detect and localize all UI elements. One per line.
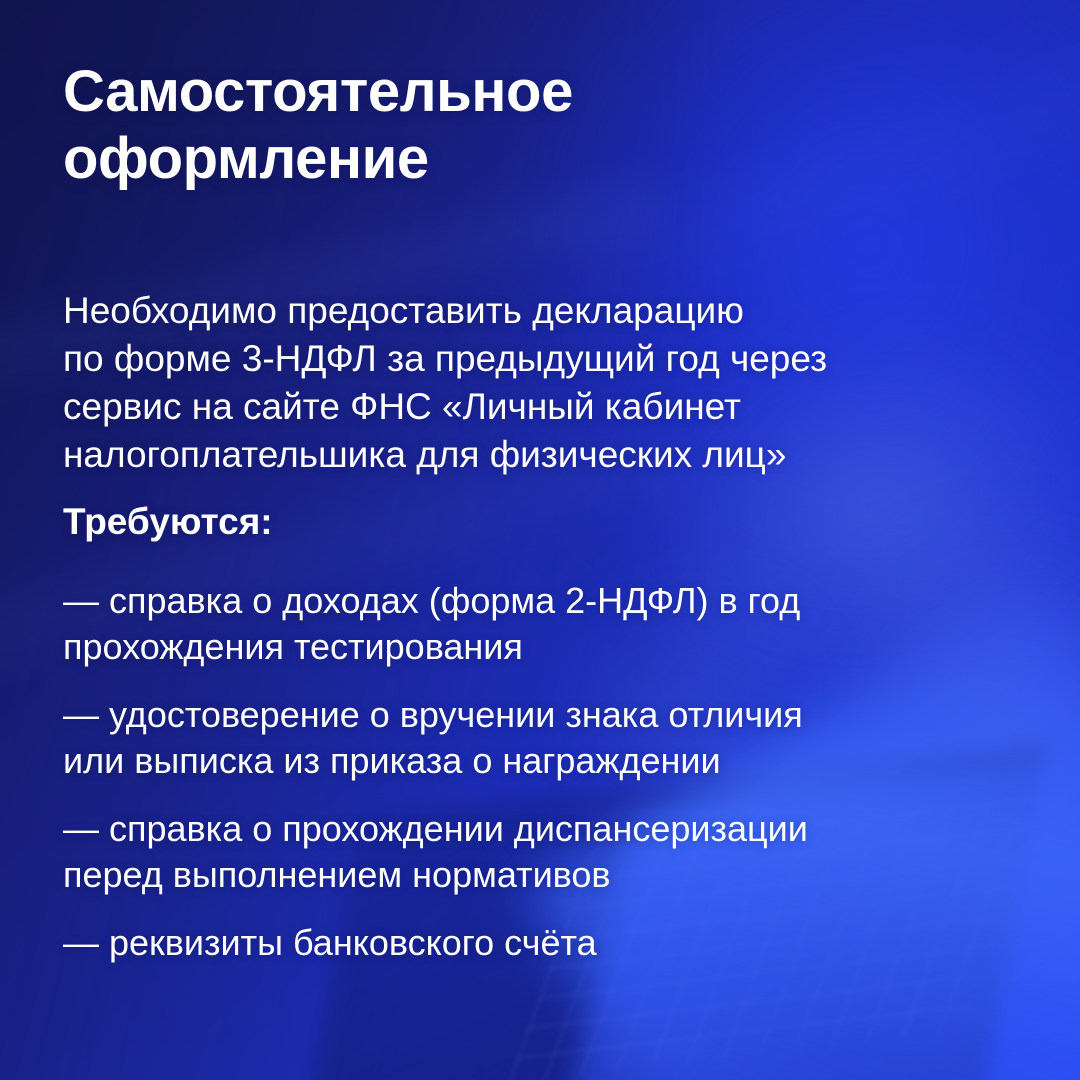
- list-item: — справка о доходах (форма 2-НДФЛ) в год…: [63, 578, 993, 670]
- requirements-heading: Требуются:: [63, 500, 273, 544]
- list-item: — реквизиты банковского счёта: [63, 920, 993, 966]
- list-item: — справка о прохождении диспансеризации …: [63, 806, 993, 898]
- requirements-list: — справка о доходах (форма 2-НДФЛ) в год…: [63, 578, 993, 967]
- list-item: — удостоверение о вручении знака отличия…: [63, 692, 993, 784]
- page-title: Самостоятельное оформление: [63, 58, 763, 193]
- intro-paragraph: Необходимо предоставить декларацию по фо…: [63, 287, 983, 479]
- card-content: Самостоятельное оформление Необходимо пр…: [63, 0, 1023, 1080]
- infographic-card: Самостоятельное оформление Необходимо пр…: [0, 0, 1080, 1080]
